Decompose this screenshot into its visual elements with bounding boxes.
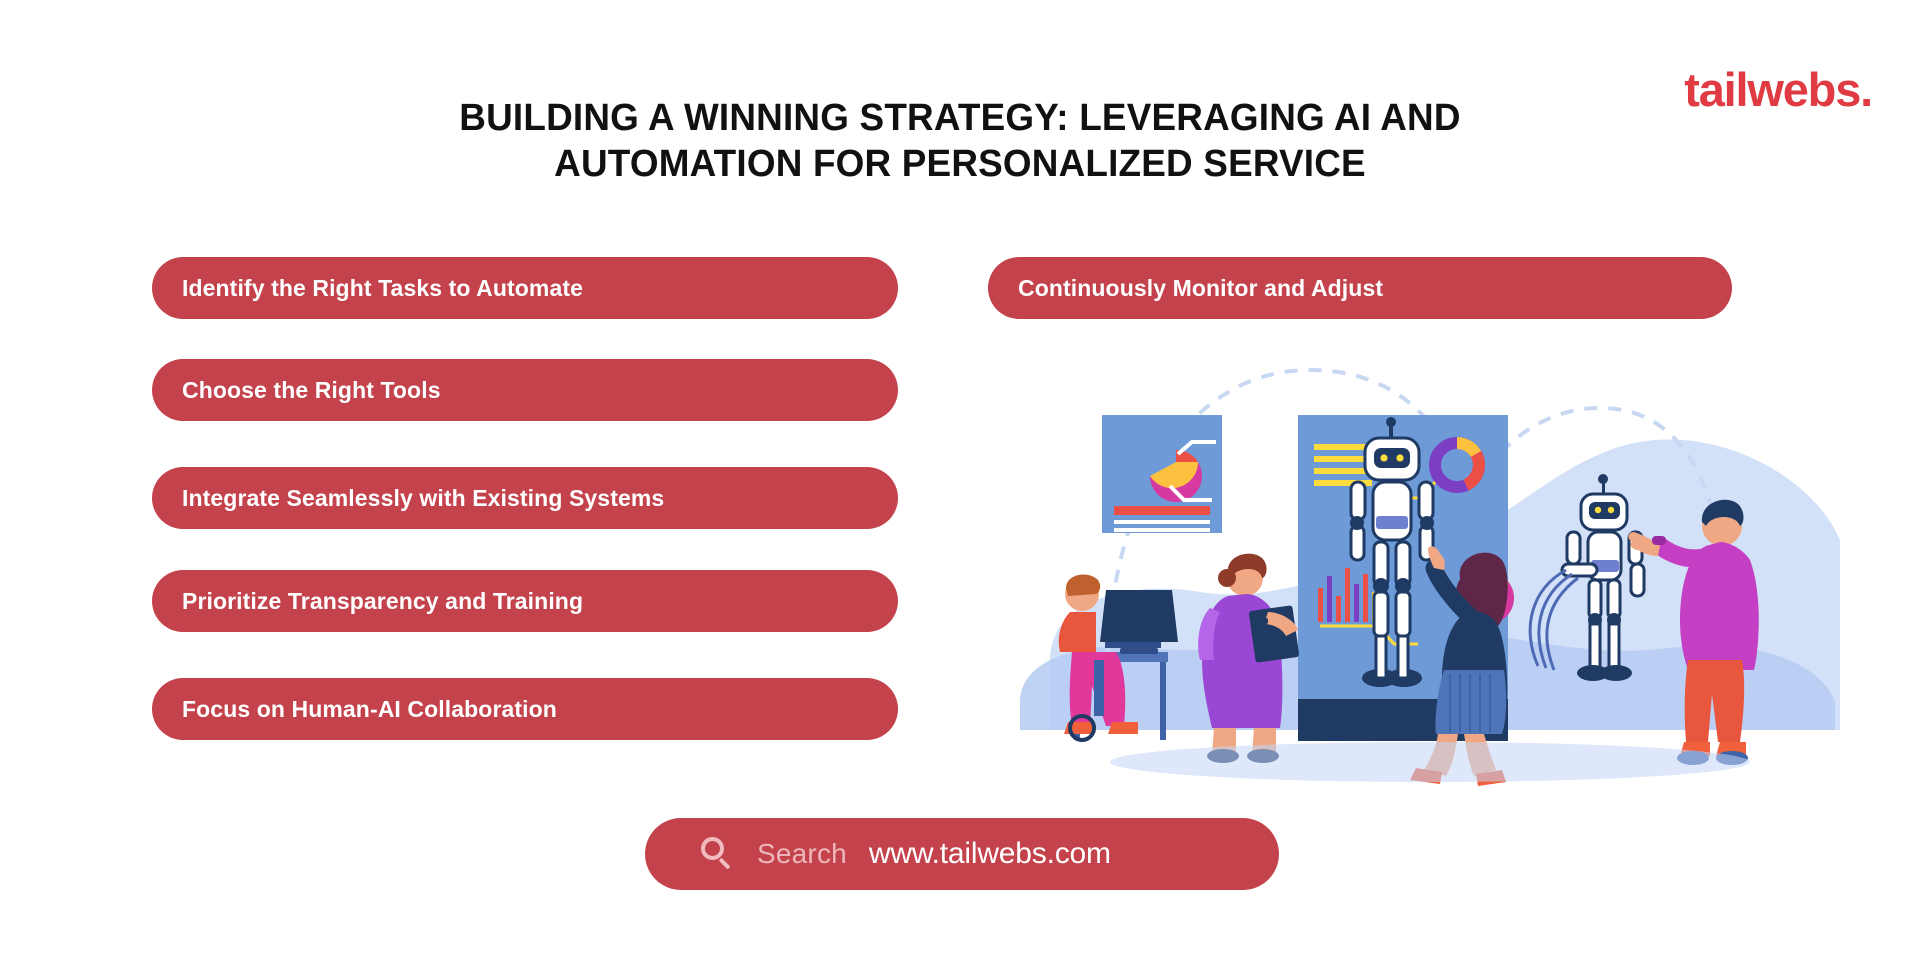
- list-item-integrate-systems[interactable]: Integrate Seamlessly with Existing Syste…: [152, 467, 898, 529]
- search-input-value[interactable]: www.tailwebs.com: [869, 837, 1111, 871]
- search-bar[interactable]: Search www.tailwebs.com: [645, 818, 1279, 890]
- page-title-line-1: BUILDING A WINNING STRATEGY: LEVERAGING …: [459, 97, 1460, 139]
- ai-collaboration-illustration: [1010, 330, 1840, 800]
- list-item-choose-tools[interactable]: Choose the Right Tools: [152, 359, 898, 421]
- wall-chart-panel: [1102, 415, 1222, 533]
- list-item-human-ai-collaboration[interactable]: Focus on Human-AI Collaboration: [152, 678, 898, 740]
- floor-shadow: [1110, 742, 1750, 782]
- search-placeholder: Search: [757, 838, 847, 870]
- list-item-monitor-adjust[interactable]: Continuously Monitor and Adjust: [988, 257, 1732, 319]
- poster-canvas: tailwebs. BUILDING A WINNING STRATEGY: L…: [0, 0, 1920, 960]
- person-at-desk: [1059, 574, 1178, 740]
- person-with-tablet: [1198, 554, 1299, 763]
- page-title-line-2: AUTOMATION FOR PERSONALIZED SERVICE: [29, 142, 1891, 188]
- search-icon: [701, 837, 735, 871]
- list-item-transparency-training[interactable]: Prioritize Transparency and Training: [152, 570, 898, 632]
- list-item-identify-tasks[interactable]: Identify the Right Tasks to Automate: [152, 257, 898, 319]
- page-title: BUILDING A WINNING STRATEGY: LEVERAGING …: [29, 96, 1891, 187]
